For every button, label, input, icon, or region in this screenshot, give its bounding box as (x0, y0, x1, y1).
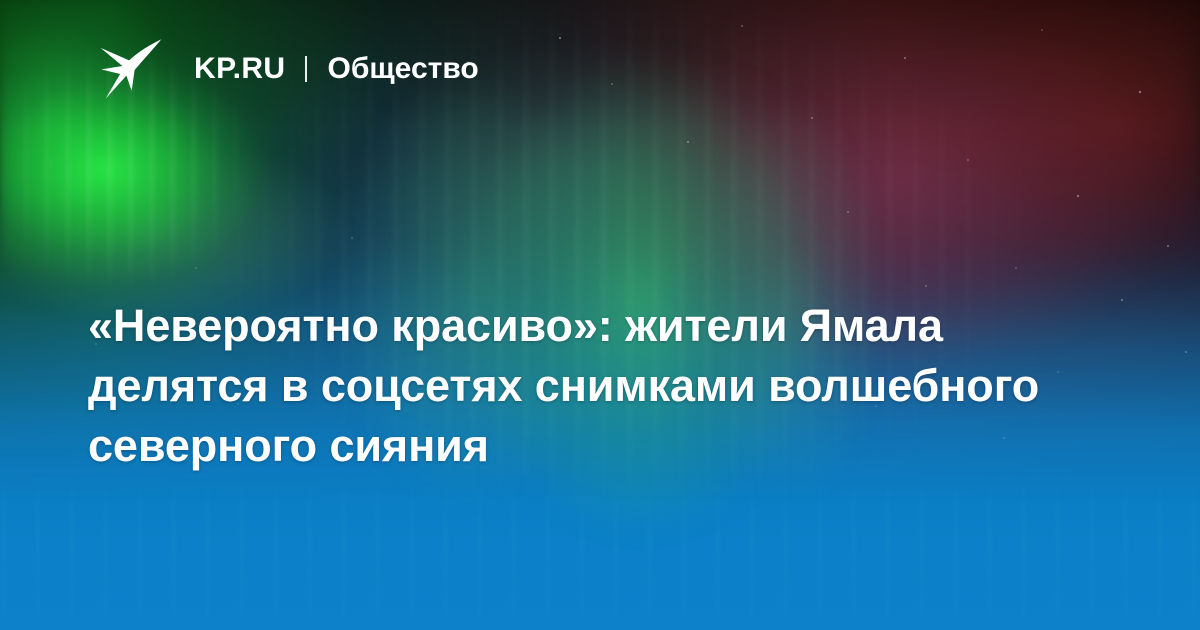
kp-swallow-bird-logo-icon[interactable] (96, 36, 164, 102)
social-share-card: KP.RU Общество «Невероятно красиво»: жит… (0, 0, 1200, 630)
headline-title: «Невероятно красиво»: жители Ямала делят… (88, 296, 1098, 476)
brand-name[interactable]: KP.RU (194, 54, 285, 84)
header-divider (305, 56, 307, 82)
card-header: KP.RU Общество (96, 36, 479, 102)
rubric-label[interactable]: Общество (327, 54, 478, 84)
